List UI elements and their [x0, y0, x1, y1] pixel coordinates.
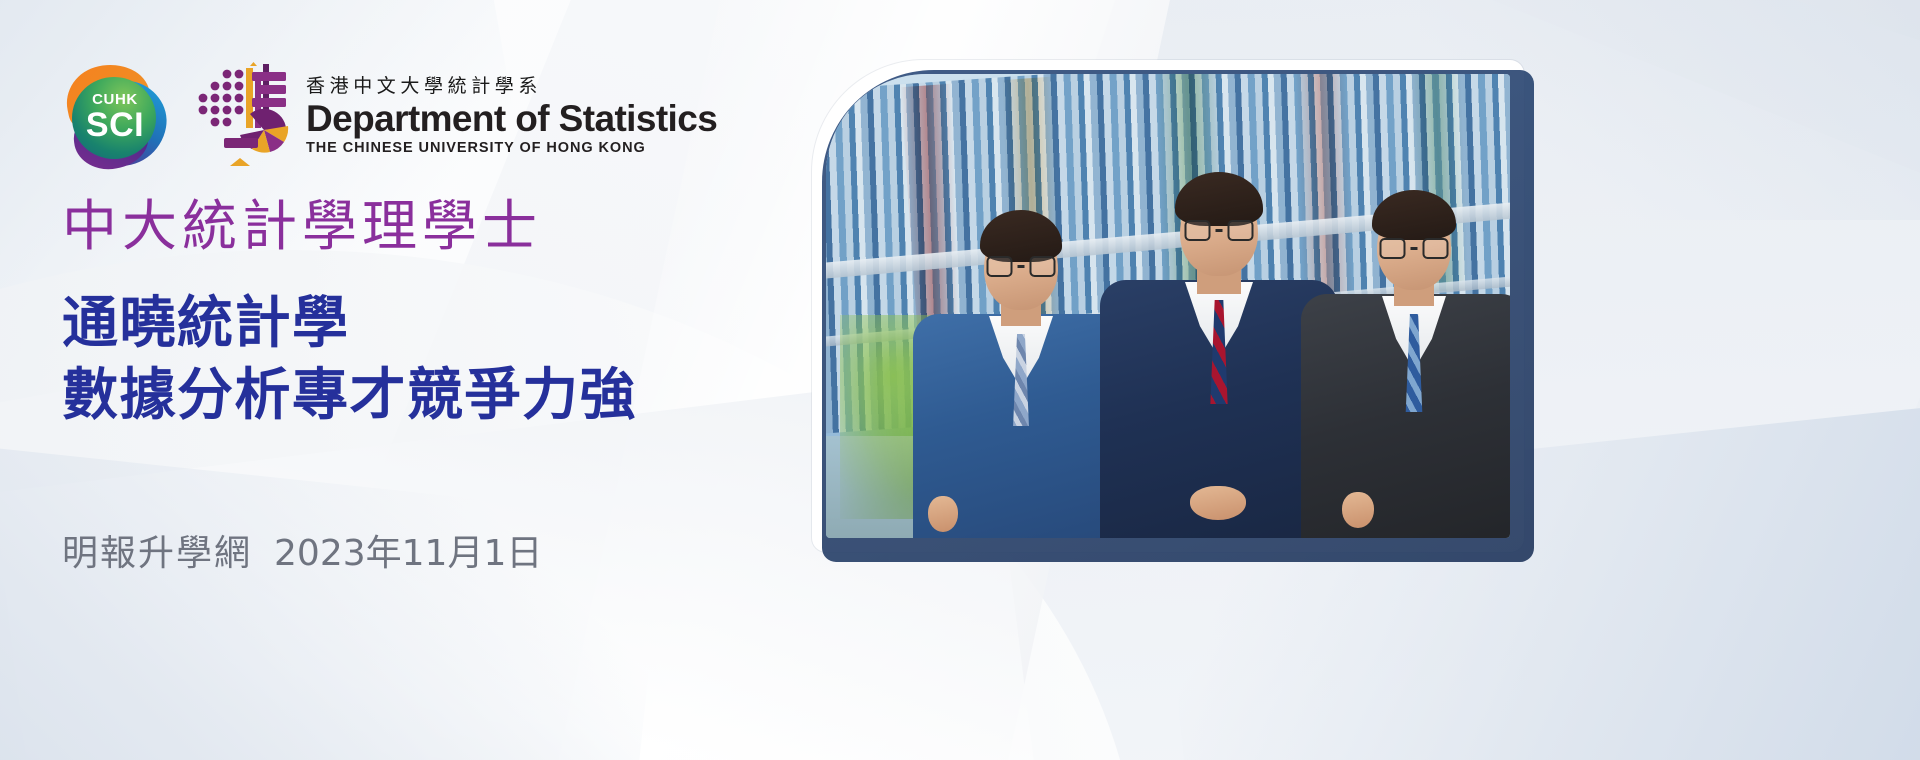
tagline-line-2: 數據分析專才競爭力強 [62, 363, 637, 429]
person-left-hair [980, 210, 1062, 262]
person-centre-hands [1190, 486, 1246, 520]
statistics-s-mark-icon [194, 62, 290, 171]
person-right [1296, 192, 1510, 538]
source-attribution: 明報升學網 2023年11月1日 [62, 524, 542, 576]
person-right-hand [1342, 492, 1374, 528]
person-left-glasses-icon [987, 256, 1056, 277]
department-chinese-name: 香港中文大學統計學系 [306, 76, 717, 97]
headline-block: 中大統計學理學士 通曉統計學 數據分析專才競爭力強 [62, 196, 637, 429]
sci-logo-cuhk-label: CUHK [62, 91, 168, 108]
tagline-line-1: 通曉統計學 [62, 291, 637, 357]
source-publication: 明報升學網 [62, 524, 252, 576]
sci-logo-sci-label: SCI [62, 107, 168, 143]
logo-row: CUHK SCI [62, 62, 717, 171]
person-right-hair [1372, 190, 1456, 240]
cuhk-sci-logo: CUHK SCI [62, 65, 168, 169]
university-name: THE CHINESE UNIVERSITY OF HONG KONG [306, 141, 717, 157]
three-faculty-members-photo [826, 74, 1510, 538]
department-english-name: Department of Statistics [306, 99, 717, 138]
person-left-hand [928, 496, 958, 532]
program-title: 中大統計學理學士 [62, 196, 637, 257]
person-right-glasses-icon [1380, 238, 1449, 259]
source-date: 2023年11月1日 [274, 524, 542, 576]
department-logo-group: 香港中文大學統計學系 Department of Statistics THE … [194, 62, 717, 171]
promotional-banner: CUHK SCI [0, 0, 1920, 760]
person-centre-hair [1175, 172, 1263, 226]
person-centre-glasses-icon [1185, 220, 1254, 241]
department-logo-text: 香港中文大學統計學系 Department of Statistics THE … [306, 76, 717, 156]
photo-frame [812, 60, 1524, 552]
